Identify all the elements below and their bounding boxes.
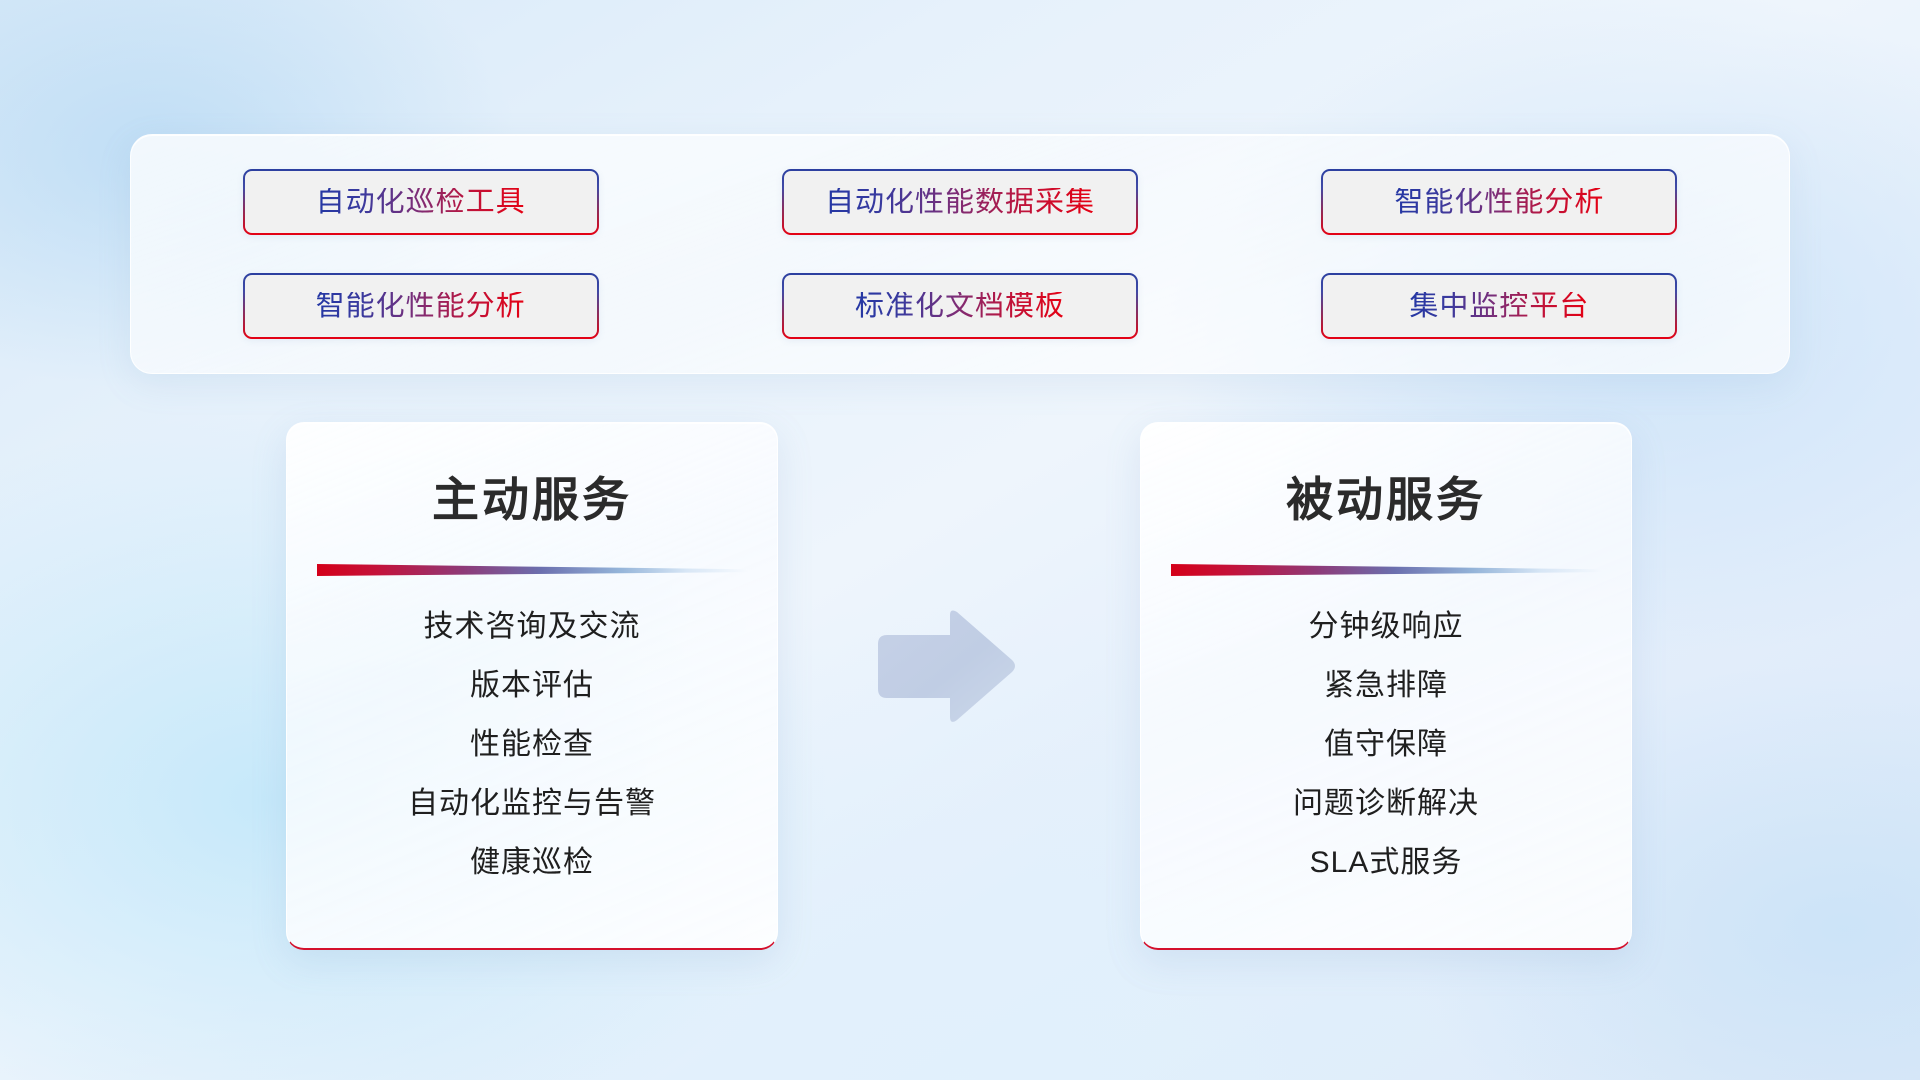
list-item: SLA式服务 bbox=[1310, 846, 1463, 879]
list-item: 问题诊断解决 bbox=[1293, 787, 1479, 820]
list-item: 分钟级响应 bbox=[1309, 610, 1464, 643]
list-item: 健康巡检 bbox=[470, 846, 594, 879]
capability-tag[interactable]: 智能化性能分析 bbox=[1321, 169, 1677, 235]
card-item-list: 技术咨询及交流 版本评估 性能检查 自动化监控与告警 健康巡检 bbox=[287, 610, 777, 879]
capability-tag[interactable]: 自动化性能数据采集 bbox=[782, 169, 1138, 235]
list-item: 紧急排障 bbox=[1324, 669, 1448, 702]
capability-tag[interactable]: 集中监控平台 bbox=[1321, 273, 1677, 339]
capability-tags-panel: 自动化巡检工具 自动化性能数据采集 智能化性能分析 智能化性能分析 标准化文档模… bbox=[130, 134, 1790, 374]
card-divider bbox=[1171, 564, 1601, 576]
service-card-active: 主动服务 技术咨询及交流 版本评估 性能检查 自动化监控与告警 健康巡检 bbox=[286, 422, 778, 950]
list-item: 自动化监控与告警 bbox=[408, 787, 656, 820]
capability-tag-label: 自动化巡检工具 bbox=[316, 188, 526, 217]
capability-tag-label: 自动化性能数据采集 bbox=[825, 188, 1095, 217]
card-title: 主动服务 bbox=[287, 461, 777, 530]
divider-wedge bbox=[1171, 564, 1601, 576]
card-title: 被动服务 bbox=[1141, 461, 1631, 530]
list-item: 技术咨询及交流 bbox=[424, 610, 641, 643]
capability-tag[interactable]: 自动化巡检工具 bbox=[243, 169, 599, 235]
capability-tag[interactable]: 智能化性能分析 bbox=[243, 273, 599, 339]
right-arrow-icon bbox=[866, 608, 1018, 726]
capability-tag-label: 标准化文档模板 bbox=[855, 292, 1065, 321]
list-item: 版本评估 bbox=[470, 669, 594, 702]
list-item: 值守保障 bbox=[1324, 728, 1448, 761]
list-item: 性能检查 bbox=[470, 728, 594, 761]
capability-tag[interactable]: 标准化文档模板 bbox=[782, 273, 1138, 339]
capability-tag-label: 智能化性能分析 bbox=[1394, 188, 1604, 217]
capability-tag-label: 集中监控平台 bbox=[1409, 292, 1589, 321]
service-card-passive: 被动服务 分钟级响应 紧急排障 值守保障 问题诊断解决 SLA式服务 bbox=[1140, 422, 1632, 950]
card-item-list: 分钟级响应 紧急排障 值守保障 问题诊断解决 SLA式服务 bbox=[1141, 610, 1631, 879]
slide-canvas: 自动化巡检工具 自动化性能数据采集 智能化性能分析 智能化性能分析 标准化文档模… bbox=[0, 0, 1920, 1080]
capability-tag-label: 智能化性能分析 bbox=[316, 292, 526, 321]
divider-wedge bbox=[317, 564, 747, 576]
card-divider bbox=[317, 564, 747, 576]
